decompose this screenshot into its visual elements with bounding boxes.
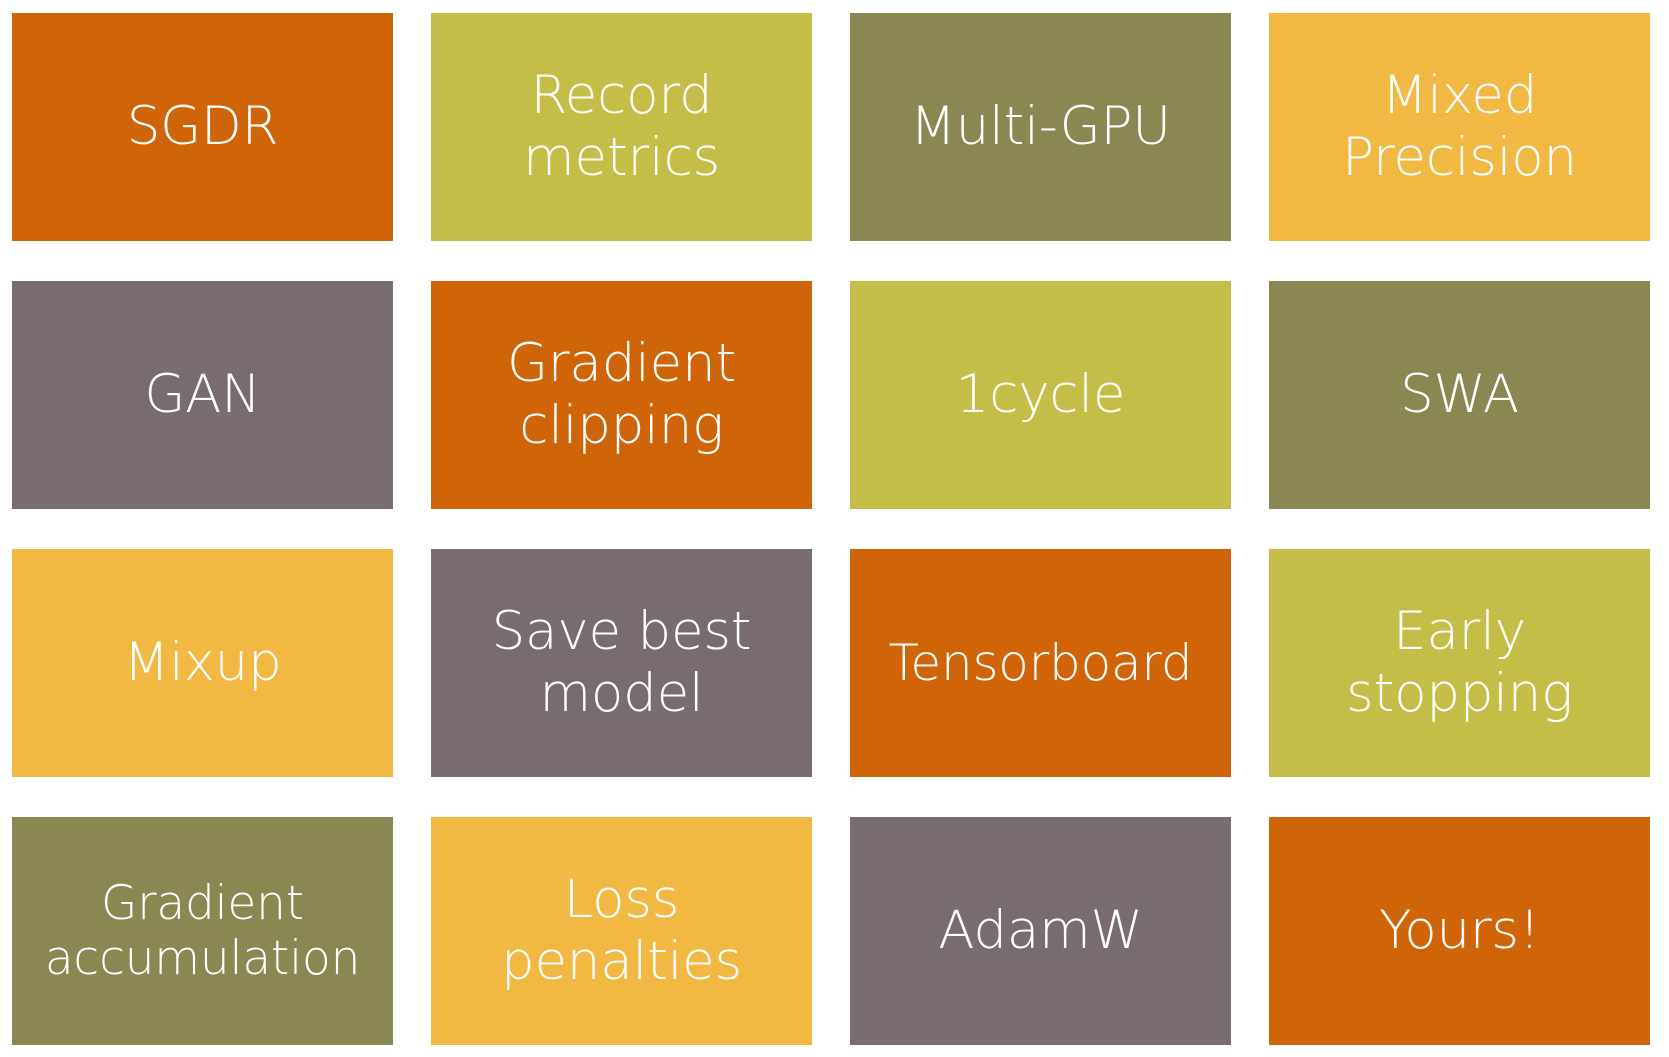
tile-label: GAN (130, 364, 274, 426)
tile-label: Yours! (1365, 900, 1554, 962)
tile-tensorboard[interactable]: Tensorboard (850, 549, 1231, 777)
tile-label: Save best model (478, 601, 766, 725)
tile-label: Mixup (109, 632, 295, 694)
tile-label: Gradient clipping (493, 333, 750, 457)
tile-mixup[interactable]: Mixup (12, 549, 393, 777)
tile-mixed-precision[interactable]: Mixed Precision (1269, 13, 1650, 241)
tile-label: Loss penalties (487, 869, 756, 993)
tile-label: SGDR (113, 96, 293, 158)
tile-label: Multi-GPU (896, 96, 1185, 158)
tile-label: AdamW (924, 900, 1156, 962)
tile-early-stopping[interactable]: Early stopping (1269, 549, 1650, 777)
tile-label: Record metrics (509, 65, 734, 189)
tile-label: Gradient accumulation (31, 876, 374, 986)
tile-swa[interactable]: SWA (1269, 281, 1650, 509)
tile-sgdr[interactable]: SGDR (12, 13, 393, 241)
tile-label: Tensorboard (875, 634, 1207, 693)
tile-label: SWA (1386, 364, 1533, 426)
tile-loss-penalties[interactable]: Loss penalties (431, 817, 812, 1045)
tile-record-metrics[interactable]: Record metrics (431, 13, 812, 241)
tile-1cycle[interactable]: 1cycle (850, 281, 1231, 509)
tile-gradient-clipping[interactable]: Gradient clipping (431, 281, 812, 509)
tile-yours[interactable]: Yours! (1269, 817, 1650, 1045)
tile-label: 1cycle (942, 364, 1140, 426)
tile-label: Mixed Precision (1328, 65, 1591, 189)
tile-grid: SGDR Record metrics Multi-GPU Mixed Prec… (0, 0, 1669, 1057)
tile-gan[interactable]: GAN (12, 281, 393, 509)
tile-multi-gpu[interactable]: Multi-GPU (850, 13, 1231, 241)
tile-gradient-accumulation[interactable]: Gradient accumulation (12, 817, 393, 1045)
tile-label: Early stopping (1332, 601, 1587, 725)
tile-save-best-model[interactable]: Save best model (431, 549, 812, 777)
tile-adamw[interactable]: AdamW (850, 817, 1231, 1045)
